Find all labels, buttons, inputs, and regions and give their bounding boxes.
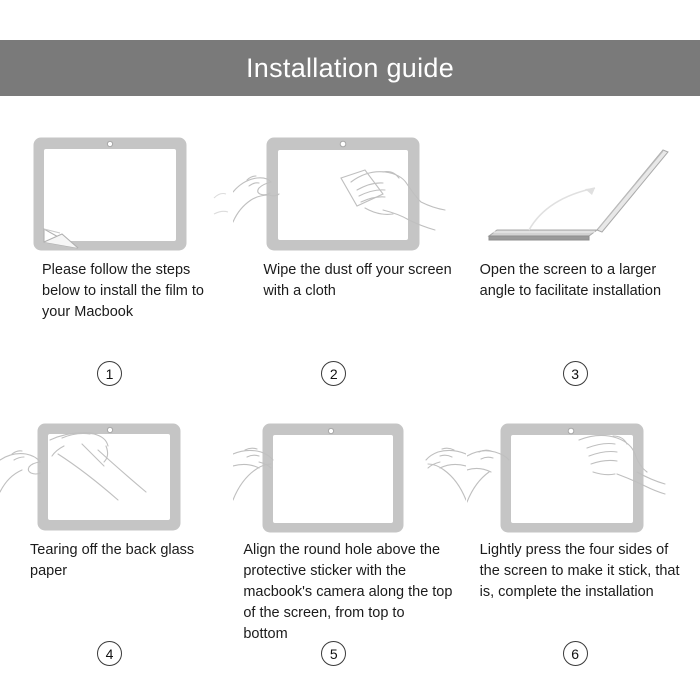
- step-panel-5: Align the round hole above the protectiv…: [233, 410, 466, 690]
- step-caption-1: Please follow the steps below to install…: [0, 260, 233, 323]
- illustration-hands-tearing-back-glass-paper: [0, 410, 233, 535]
- step-caption-text-1: Please follow the steps below to install…: [0, 260, 233, 323]
- step-caption-text-4: Tearing off the back glass paper: [0, 540, 233, 582]
- illustration-hand-pressing-screen-edges: [467, 410, 700, 535]
- illustration-hand-wiping-screen-with-cloth: [233, 130, 466, 255]
- step-number-container-6: 6: [467, 641, 700, 666]
- header-banner: Installation guide: [0, 40, 700, 96]
- step-caption-text-5: Align the round hole above the protectiv…: [233, 540, 466, 645]
- step-panel-3: Open the screen to a larger angle to fac…: [467, 130, 700, 410]
- step-caption-2: Wipe the dust off your screen with a clo…: [233, 260, 466, 302]
- page-title: Installation guide: [246, 53, 454, 84]
- step-number-badge-3: 3: [563, 361, 588, 386]
- step-number-badge-4: 4: [97, 641, 122, 666]
- step-panel-2: Wipe the dust off your screen with a clo…: [233, 130, 466, 410]
- step-caption-4: Tearing off the back glass paper: [0, 540, 233, 582]
- step-panel-4: Tearing off the back glass paper 4: [0, 410, 233, 690]
- step-number-container-3: 3: [467, 361, 700, 386]
- illustration-two-hands-aligning-film-over-screen: [233, 410, 466, 535]
- step-caption-text-3: Open the screen to a larger angle to fac…: [467, 260, 700, 302]
- step-panel-1: Please follow the steps below to install…: [0, 130, 233, 410]
- steps-grid: Please follow the steps below to install…: [0, 130, 700, 690]
- step-caption-3: Open the screen to a larger angle to fac…: [467, 260, 700, 302]
- illustration-laptop-opened-at-angle-with-rotation-arrow: [467, 130, 700, 255]
- step-number-badge-6: 6: [563, 641, 588, 666]
- illustration-macbook-screen-with-peeling-film-corner: [0, 130, 233, 255]
- step-number-badge-2: 2: [321, 361, 346, 386]
- step-caption-text-2: Wipe the dust off your screen with a clo…: [233, 260, 466, 302]
- step-panel-6: Lightly press the four sides of the scre…: [467, 410, 700, 690]
- step-caption-text-6: Lightly press the four sides of the scre…: [467, 540, 700, 603]
- step-caption-5: Align the round hole above the protectiv…: [233, 540, 466, 645]
- step-caption-6: Lightly press the four sides of the scre…: [467, 540, 700, 603]
- step-number-badge-5: 5: [321, 641, 346, 666]
- step-number-badge-1: 1: [97, 361, 122, 386]
